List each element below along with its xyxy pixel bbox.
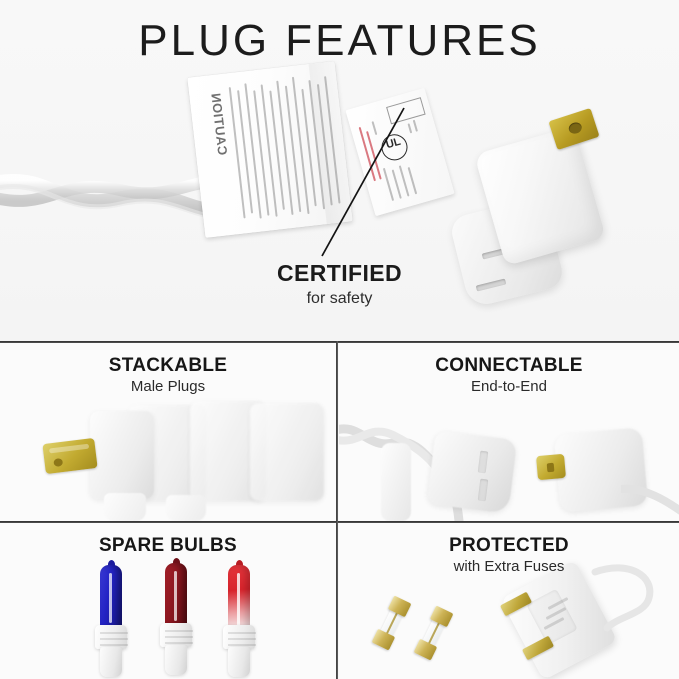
bulb-dark-red xyxy=(157,563,195,675)
certified-callout: CERTIFIED for safety xyxy=(0,260,679,308)
panel-connectable-subtitle: End-to-End xyxy=(339,378,679,395)
page-title: PLUG FEATURES xyxy=(0,16,679,66)
divider-horizontal-middle xyxy=(0,521,679,523)
panel-stackable-title: STACKABLE xyxy=(0,355,336,376)
panel-protected-head: PROTECTED with Extra Fuses xyxy=(339,535,679,576)
hero-section: PLUG FEATURES CAUTION xyxy=(0,0,679,341)
prong-hole xyxy=(567,121,583,135)
panel-connectable-head: CONNECTABLE End-to-End xyxy=(339,355,679,396)
ul-certification-tag: UL xyxy=(345,88,454,216)
caution-word: CAUTION xyxy=(197,92,230,157)
panel-stackable-head: STACKABLE Male Plugs xyxy=(0,355,336,396)
panel-stackable-subtitle: Male Plugs xyxy=(0,378,336,395)
panel-spare-bulbs-head: SPARE BULBS xyxy=(0,535,336,556)
divider-vertical xyxy=(336,341,338,679)
plug-features-infographic: PLUG FEATURES CAUTION xyxy=(0,0,679,679)
panel-protected-title: PROTECTED xyxy=(339,535,679,556)
panel-protected-subtitle: with Extra Fuses xyxy=(339,558,679,575)
plug-prong xyxy=(548,108,599,150)
panel-stackable: STACKABLE Male Plugs xyxy=(0,343,336,521)
fuse-1 xyxy=(371,595,413,651)
panel-spare-bulbs: SPARE BULBS xyxy=(0,523,336,679)
stackable-gold-prong xyxy=(42,438,97,474)
panel-connectable: CONNECTABLE End-to-End xyxy=(339,343,679,521)
feature-grid: STACKABLE Male Plugs xyxy=(0,341,679,679)
ul-mark-icon: UL xyxy=(378,131,410,163)
ul-mark-text: UL xyxy=(380,134,406,152)
bulb-blue xyxy=(92,565,130,677)
female-socket xyxy=(427,430,517,513)
warning-hang-tag: CAUTION xyxy=(187,61,352,238)
connectable-gold-prong xyxy=(536,454,566,480)
panel-connectable-title: CONNECTABLE xyxy=(339,355,679,376)
fuse-2 xyxy=(413,605,455,661)
bulb-red xyxy=(220,565,258,677)
certified-subheading: for safety xyxy=(0,290,679,308)
certified-heading: CERTIFIED xyxy=(0,260,679,287)
panel-spare-bulbs-title: SPARE BULBS xyxy=(0,535,336,556)
ul-code-box xyxy=(386,97,426,124)
divider-horizontal-top xyxy=(0,341,679,343)
fuse-holder-plug xyxy=(497,568,647,676)
connectable-tail-cord xyxy=(621,483,679,521)
